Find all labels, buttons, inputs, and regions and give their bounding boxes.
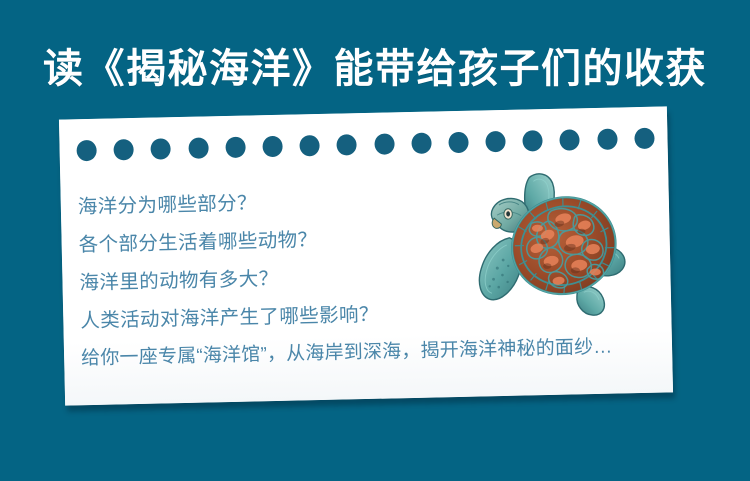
sea-turtle-icon [474, 169, 629, 318]
dot [262, 135, 282, 156]
dot-row [76, 126, 654, 163]
card-surface: 海洋分为哪些部分？ 各个部分生活着哪些动物？ 海洋里的动物有多大？ 人类活动对海… [59, 106, 673, 405]
dot [448, 131, 468, 152]
dot [114, 139, 134, 160]
dot [225, 136, 245, 157]
dot [485, 130, 505, 151]
dot [523, 130, 543, 151]
dot [597, 128, 617, 149]
page-title: 读《揭秘海洋》能带给孩子们的收获 [0, 44, 750, 94]
dot [151, 138, 171, 159]
info-card: 海洋分为哪些部分？ 各个部分生活着哪些动物？ 海洋里的动物有多大？ 人类活动对海… [59, 106, 673, 405]
dot [337, 134, 357, 155]
dot [188, 137, 208, 158]
dot [411, 132, 431, 153]
poster-canvas: 读《揭秘海洋》能带给孩子们的收获 [0, 0, 750, 481]
dot [634, 127, 654, 148]
dot [374, 133, 394, 154]
dot [76, 139, 96, 160]
dot [560, 129, 580, 150]
dot [299, 134, 319, 155]
